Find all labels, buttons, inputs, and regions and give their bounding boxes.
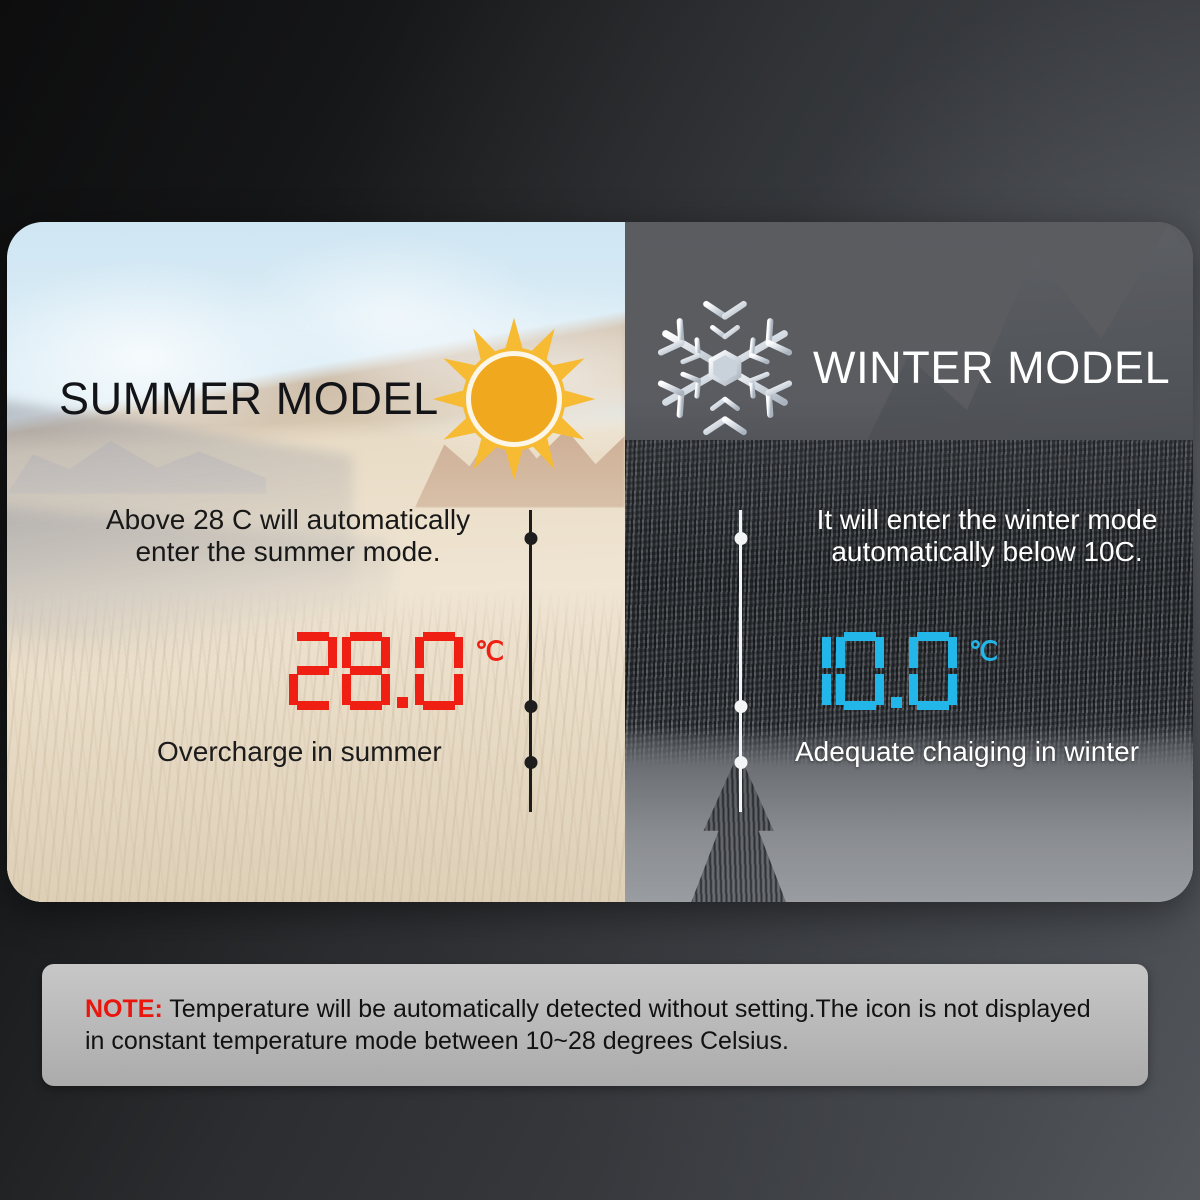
- summer-title: SUMMER MODEL: [59, 373, 439, 425]
- winter-connector-line: [739, 510, 742, 812]
- connector-dot: [734, 756, 747, 769]
- summer-temperature-digits: [289, 632, 468, 710]
- snowflake-icon: [647, 290, 803, 446]
- led-decimal-point: [889, 632, 909, 710]
- connector-dot: [524, 532, 537, 545]
- summer-temperature-unit: ℃: [475, 638, 503, 664]
- sun-icon: [431, 316, 597, 482]
- summer-connector-line: [529, 510, 532, 812]
- led-digit-0: [909, 632, 957, 710]
- summer-description: Above 28 C will automatically enter the …: [53, 504, 523, 569]
- winter-temperature-digits: [805, 632, 962, 710]
- winter-temperature-unit: ℃: [969, 638, 997, 664]
- summer-temperature-readout: ℃: [289, 632, 503, 710]
- winter-title: WINTER MODEL: [813, 342, 1170, 394]
- led-digit-2: [289, 632, 337, 710]
- winter-header: WINTER MODEL: [647, 290, 1170, 446]
- promo-graphic-root: SUMMER MODEL: [0, 0, 1200, 1200]
- winter-mode-panel: WINTER MODEL It will enter the winter mo…: [625, 222, 1193, 902]
- winter-caption: Adequate chaiging in winter: [795, 736, 1139, 768]
- connector-dot: [734, 532, 747, 545]
- led-digit-0: [415, 632, 463, 710]
- led-digit-8: [342, 632, 390, 710]
- summer-caption: Overcharge in summer: [157, 736, 442, 768]
- winter-description: It will enter the winter mode automatica…: [777, 504, 1193, 569]
- sun-disc: [466, 351, 562, 447]
- note-text: NOTE: Temperature will be automatically …: [85, 993, 1105, 1057]
- mode-comparison-card: SUMMER MODEL: [7, 222, 1193, 902]
- led-decimal-point: [395, 632, 415, 710]
- connector-dot: [734, 700, 747, 713]
- connector-dot: [524, 756, 537, 769]
- note-bar: NOTE: Temperature will be automatically …: [42, 964, 1148, 1086]
- summer-header: SUMMER MODEL: [59, 316, 597, 482]
- note-label: NOTE:: [85, 995, 163, 1023]
- summer-mode-panel: SUMMER MODEL: [7, 222, 625, 902]
- led-digit-0: [836, 632, 884, 710]
- led-digit-1: [805, 632, 831, 710]
- note-body: Temperature will be automatically detect…: [85, 995, 1091, 1055]
- connector-dot: [524, 700, 537, 713]
- winter-temperature-readout: ℃: [805, 632, 997, 710]
